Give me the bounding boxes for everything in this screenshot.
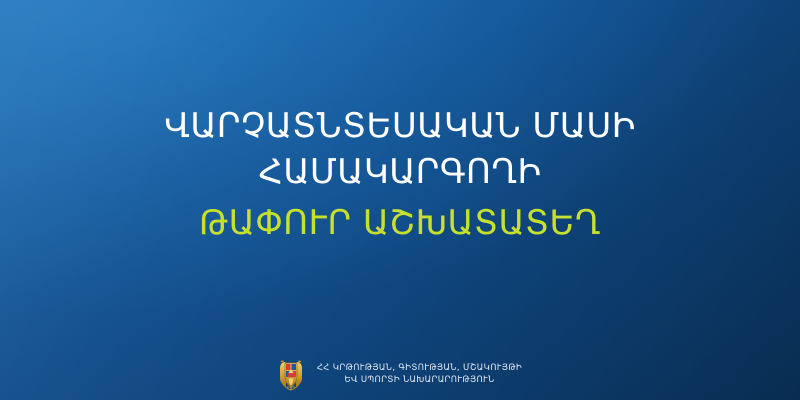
- headline-line-3-vacancy: ԹԱՓՈՒՐ ԱՇԽԱՏԱՏԵՂ: [0, 201, 800, 247]
- ministry-name-line-2: ԵՎ ՍՊՈՐՏԻ ՆԱԽԱՐԱՐՈՒԹՅՈՒՆ: [317, 374, 522, 386]
- ministry-name-line-1: ՀՀ ԿՐԹՈՒԹՅԱՆ, ԳԻՏՈՒԹՅԱՆ, ՄՇԱԿՈՒՅԹԻ: [317, 362, 522, 374]
- announcement-banner: ՎԱՐՉԱՏՆՏԵՍԱԿԱՆ ՄԱՍԻ ՀԱՄԱԿԱՐԳՈՂԻ ԹԱՓՈՒՐ Ա…: [0, 0, 800, 400]
- headline-line-2: ՀԱՄԱԿԱՐԳՈՂԻ: [0, 150, 800, 196]
- headline-block: ՎԱՐՉԱՏՆՏԵՍԱԿԱՆ ՄԱՍԻ ՀԱՄԱԿԱՐԳՈՂԻ ԹԱՓՈՒՐ Ա…: [0, 104, 800, 247]
- headline-line-1: ՎԱՐՉԱՏՆՏԵՍԱԿԱՆ ՄԱՍԻ: [0, 104, 800, 150]
- armenian-coat-of-arms-icon: [278, 356, 304, 392]
- footer-branding: ՀՀ ԿՐԹՈՒԹՅԱՆ, ԳԻՏՈՒԹՅԱՆ, ՄՇԱԿՈՒՅԹԻ ԵՎ ՍՊ…: [0, 356, 800, 392]
- ministry-name: ՀՀ ԿՐԹՈՒԹՅԱՆ, ԳԻՏՈՒԹՅԱՆ, ՄՇԱԿՈՒՅԹԻ ԵՎ ՍՊ…: [317, 362, 522, 387]
